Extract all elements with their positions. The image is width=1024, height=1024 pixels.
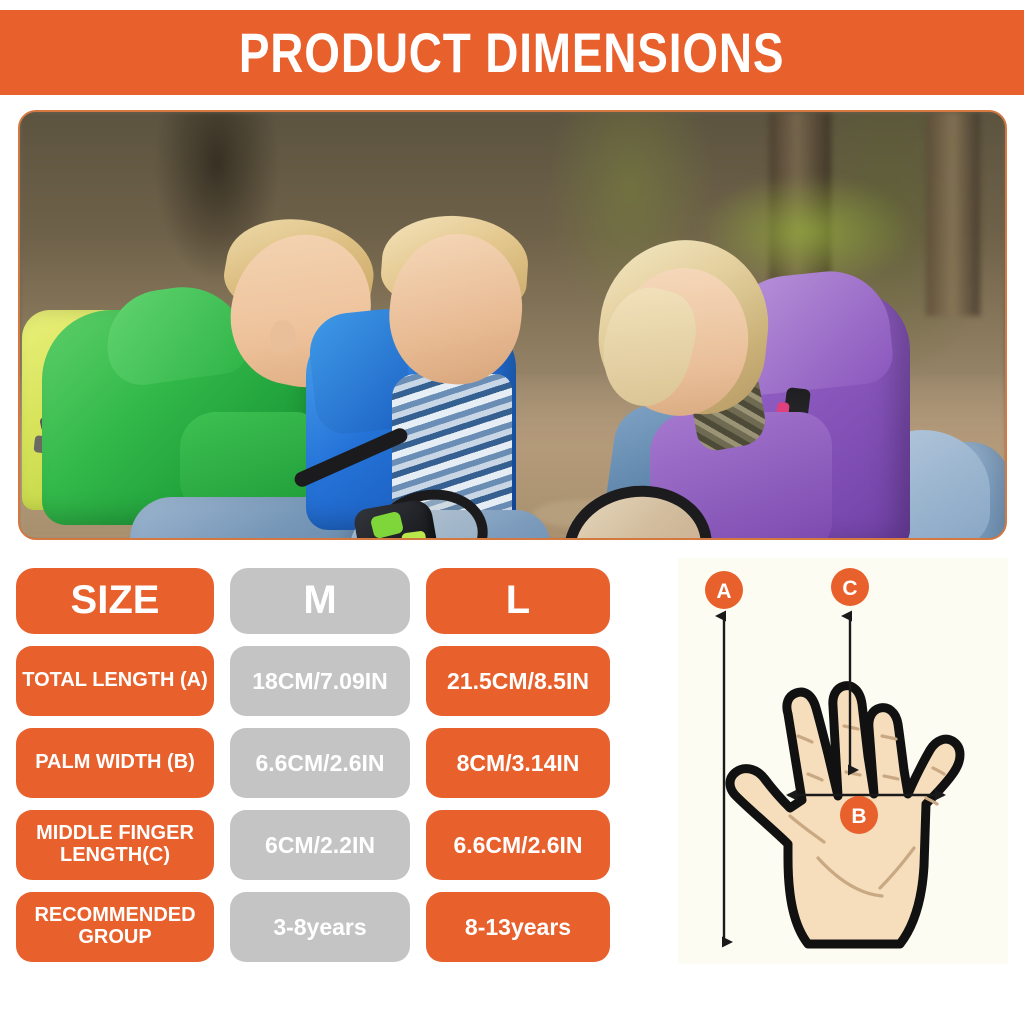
row-label-recommended-group: RECOMMENDED GROUP xyxy=(16,892,214,962)
badge-b-label: B xyxy=(851,805,866,828)
page-title: PRODUCT DIMENSIONS xyxy=(239,25,784,81)
hand-measurement-diagram: A C B xyxy=(678,558,1008,964)
table-header-size-m: M xyxy=(230,568,410,634)
row-value-l-middle-finger-length: 6.6CM/2.6IN xyxy=(426,810,610,880)
row-value-l-palm-width: 8CM/3.14IN xyxy=(426,728,610,798)
row-label-palm-width: PALM WIDTH (B) xyxy=(16,728,214,798)
photo-tree-trunk xyxy=(926,112,980,316)
table-header-size-l: L xyxy=(426,568,610,634)
badge-b: B xyxy=(840,796,878,834)
badge-c-label: C xyxy=(842,577,857,600)
row-value-l-recommended-group: 8-13years xyxy=(426,892,610,962)
row-value-m-middle-finger-length: 6CM/2.2IN xyxy=(230,810,410,880)
table-row: PALM WIDTH (B) 6.6CM/2.6IN 8CM/3.14IN xyxy=(16,728,662,798)
table-header-size: SIZE xyxy=(16,568,214,634)
badge-c: C xyxy=(831,568,869,606)
product-lifestyle-photo xyxy=(18,110,1007,540)
row-label-total-length: TOTAL LENGTH (A) xyxy=(16,646,214,716)
size-chart-table: SIZE M L TOTAL LENGTH (A) 18CM/7.09IN 21… xyxy=(16,568,662,962)
row-value-m-recommended-group: 3-8years xyxy=(230,892,410,962)
row-value-m-total-length: 18CM/7.09IN xyxy=(230,646,410,716)
table-row: MIDDLE FINGER LENGTH(C) 6CM/2.2IN 6.6CM/… xyxy=(16,810,662,880)
row-value-m-palm-width: 6.6CM/2.6IN xyxy=(230,728,410,798)
badge-a-label: A xyxy=(716,580,731,603)
table-row: RECOMMENDED GROUP 3-8years 8-13years xyxy=(16,892,662,962)
photo-boy-ear xyxy=(270,320,296,354)
row-value-l-total-length: 21.5CM/8.5IN xyxy=(426,646,610,716)
table-row: TOTAL LENGTH (A) 18CM/7.09IN 21.5CM/8.5I… xyxy=(16,646,662,716)
table-header-row: SIZE M L xyxy=(16,568,662,634)
header-banner: PRODUCT DIMENSIONS xyxy=(0,10,1024,95)
row-label-middle-finger-length: MIDDLE FINGER LENGTH(C) xyxy=(16,810,214,880)
badge-a: A xyxy=(705,571,743,609)
